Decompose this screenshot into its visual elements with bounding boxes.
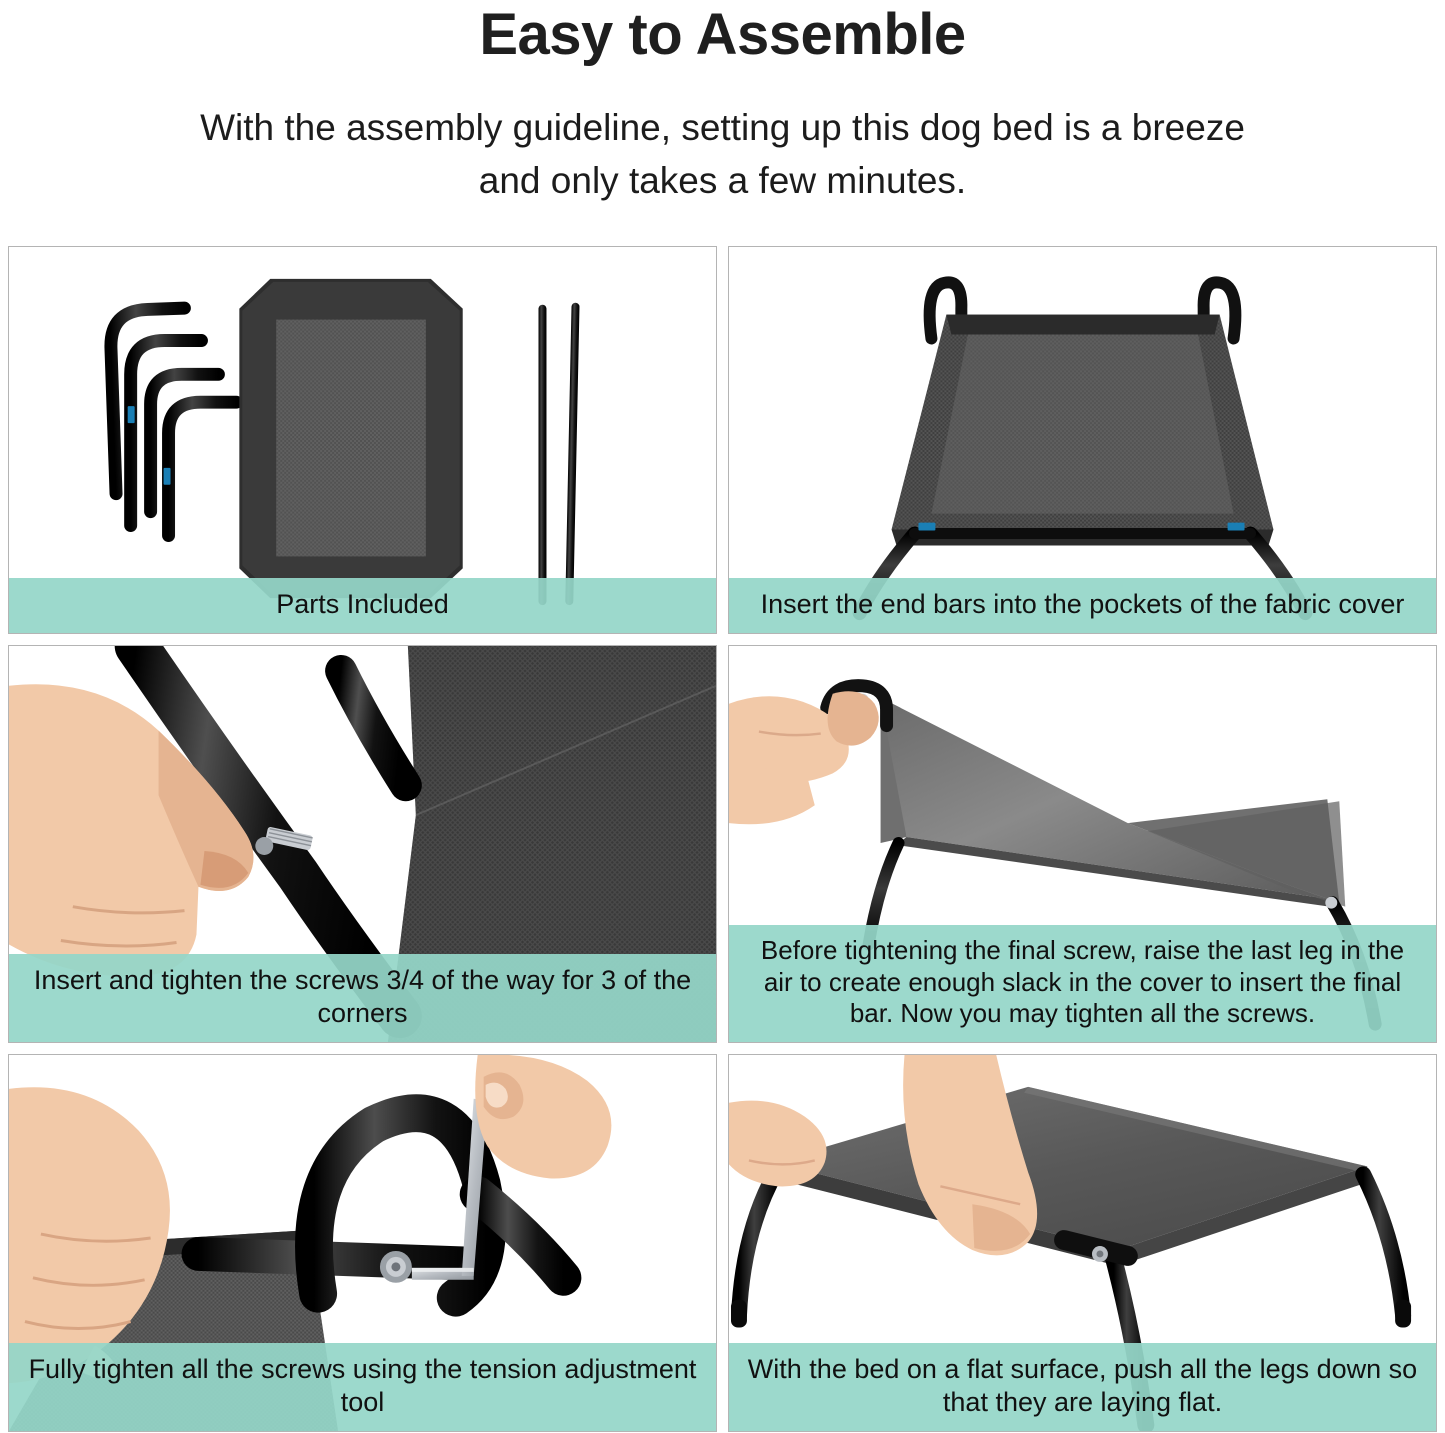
step-caption-2: Insert the end bars into the pockets of …: [729, 578, 1436, 633]
page-subtitle: With the assembly guideline, setting up …: [0, 102, 1445, 207]
step-caption-4: Before tightening the final screw, raise…: [729, 925, 1436, 1042]
fabric-cover-part: [239, 279, 462, 598]
step-caption-1: Parts Included: [9, 578, 716, 633]
step-panel-6: With the bed on a flat surface, push all…: [728, 1054, 1437, 1432]
step-caption-5: Fully tighten all the screws using the t…: [9, 1343, 716, 1431]
assembly-instruction-page: Easy to Assemble With the assembly guide…: [0, 0, 1445, 1433]
leg-part-group: [110, 308, 237, 535]
hands-illustration: [729, 691, 879, 824]
header: Easy to Assemble With the assembly guide…: [0, 0, 1445, 207]
screw-head-icon: [380, 1251, 412, 1283]
step-panel-1: Parts Included: [8, 246, 717, 634]
pressing-hand-illustration: [903, 1055, 1037, 1255]
parts-layout-illustration: [9, 247, 716, 633]
step-caption-6: With the bed on a flat surface, push all…: [729, 1343, 1436, 1431]
step-panel-5: Fully tighten all the screws using the t…: [8, 1054, 717, 1432]
step-caption-3: Insert and tighten the screws 3/4 of the…: [9, 954, 716, 1042]
end-bar-part-group: [539, 303, 580, 606]
right-hand-illustration: [475, 1055, 611, 1178]
frame-with-end-bars-illustration: [729, 247, 1436, 633]
steps-grid: Parts Included: [8, 246, 1437, 1432]
page-title: Easy to Assemble: [0, 4, 1445, 64]
step-panel-3: Insert and tighten the screws 3/4 of the…: [8, 645, 717, 1043]
left-grip-hand-illustration: [729, 1101, 827, 1187]
step-panel-4: Before tightening the final screw, raise…: [728, 645, 1437, 1043]
step-panel-2: Insert the end bars into the pockets of …: [728, 246, 1437, 634]
